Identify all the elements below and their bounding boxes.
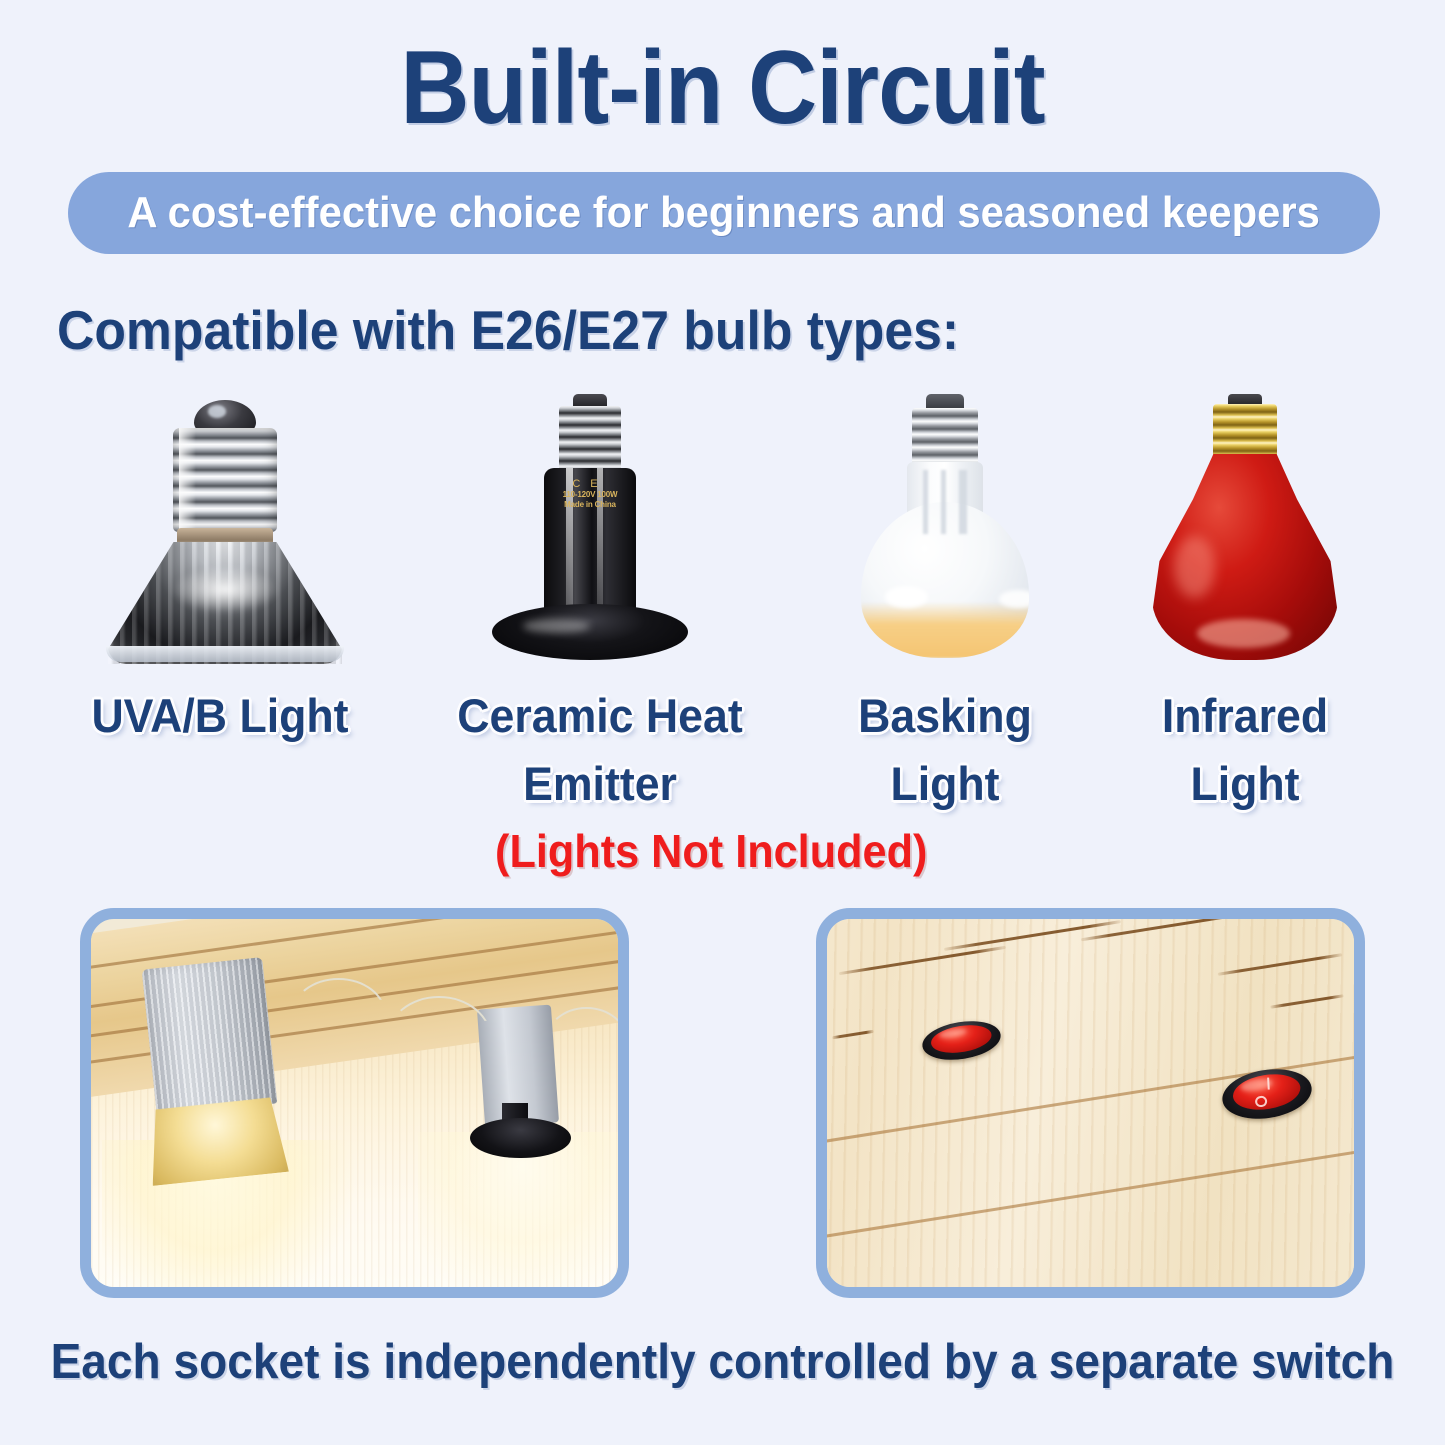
photo-rocker-switches [816, 908, 1365, 1298]
emitter-origin-text: Made in China [545, 500, 635, 510]
bulb-label-basking: Basking Light [836, 682, 1055, 818]
bulb-label-uvab-line1: UVA/B Light [63, 682, 377, 750]
lights-not-included-notice: (Lights Not Included) [43, 824, 1401, 878]
bulb-label-basking-line2: Light [836, 750, 1055, 818]
bulb-label-ceramic-line2: Emitter [429, 750, 771, 818]
bulb-label-ceramic-heat-emitter: Ceramic Heat Emitter [429, 682, 771, 818]
bulb-label-row: UVA/B Light Ceramic Heat Emitter Basking… [0, 682, 1445, 812]
footer-caption: Each socket is independently controlled … [43, 1334, 1401, 1390]
bulb-gallery: CE 110-120V 100W Made in China [0, 392, 1445, 662]
bulb-label-infrared-line1: Infrared [1136, 682, 1355, 750]
page-title: Built-in Circuit [58, 34, 1387, 143]
switch-panel-scene [827, 919, 1354, 1287]
bulb-item-uvab [103, 392, 347, 662]
subtitle-banner-text: A cost-effective choice for beginners an… [128, 188, 1320, 238]
chrome-reflector-bulb-icon [103, 392, 347, 662]
bulb-item-basking [861, 392, 1029, 662]
subtitle-banner: A cost-effective choice for beginners an… [68, 172, 1380, 254]
socket-installation-scene [91, 919, 618, 1287]
bulb-item-infrared [1152, 392, 1338, 662]
red-infrared-bulb-icon [1152, 392, 1338, 662]
bulb-item-ceramic-heat-emitter: CE 110-120V 100W Made in China [492, 392, 688, 662]
bulb-label-infrared: Infrared Light [1136, 682, 1355, 818]
bulb-label-ceramic-line1: Ceramic Heat [429, 682, 771, 750]
bulb-label-infrared-line2: Light [1136, 750, 1355, 818]
frosted-white-basking-bulb-icon [861, 392, 1029, 662]
black-ceramic-heat-emitter-icon: CE 110-120V 100W Made in China [492, 392, 688, 662]
photo-sockets-installed [80, 908, 629, 1298]
bulb-label-uvab: UVA/B Light [63, 682, 377, 750]
bulb-label-basking-line1: Basking [836, 682, 1055, 750]
infographic-root: Built-in Circuit A cost-effective choice… [0, 0, 1445, 1445]
ce-certification-marks: CE [545, 478, 635, 490]
emitter-rating-text: 110-120V 100W [545, 490, 635, 500]
ceramic-socket-left [142, 957, 278, 1116]
compatibility-heading: Compatible with E26/E27 bulb types: [57, 298, 959, 362]
